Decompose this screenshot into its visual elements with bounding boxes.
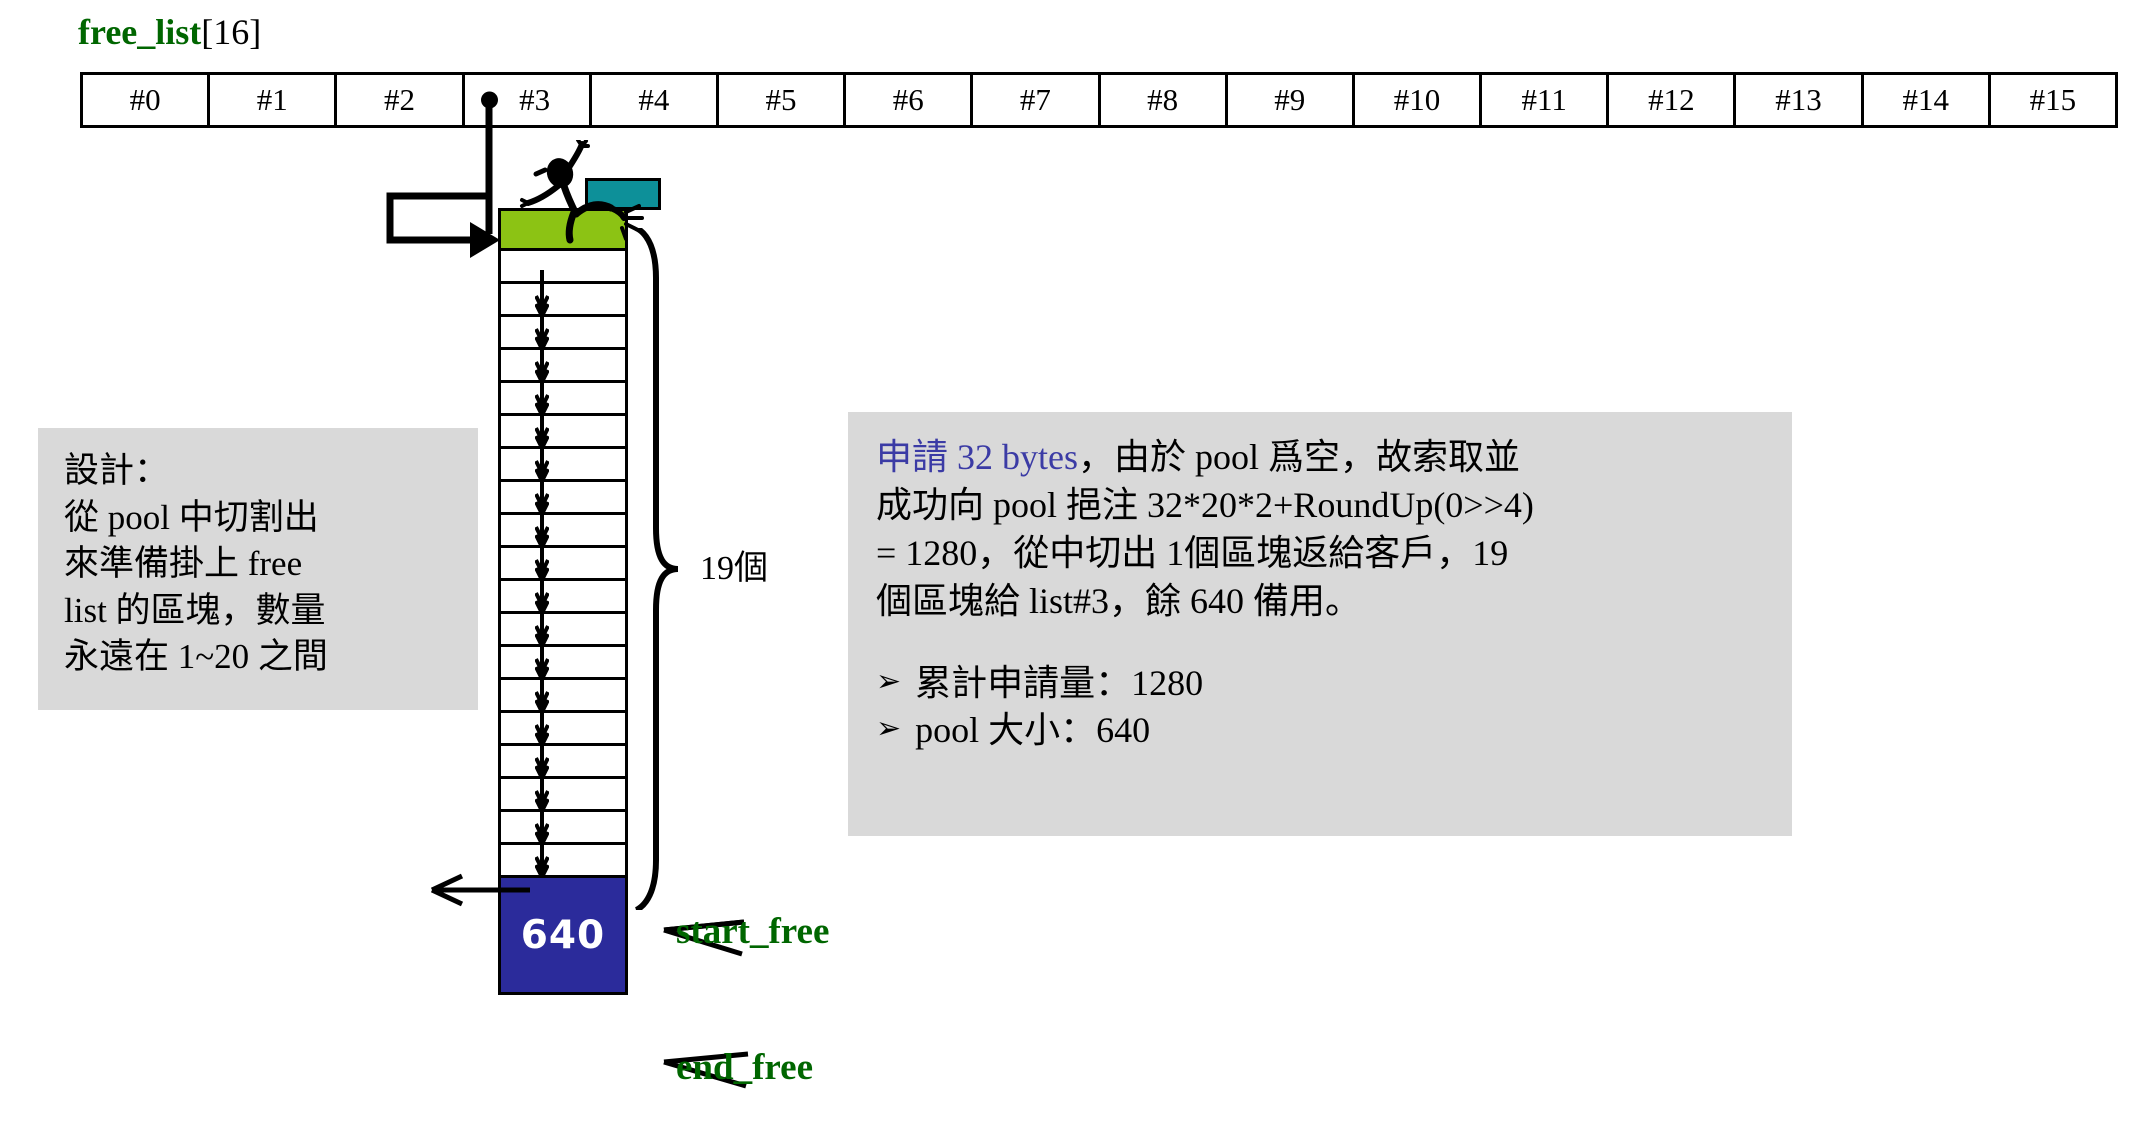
pointer-line-route bbox=[390, 196, 490, 240]
free-list-cell-3[interactable]: #3 bbox=[465, 75, 592, 125]
allocation-note-line: 申請 32 bytes，由於 pool 爲空，故索取並 bbox=[876, 434, 1764, 482]
free-list-cell-label: #6 bbox=[893, 82, 924, 118]
free-block-cell bbox=[498, 314, 628, 347]
free-list-cell-0[interactable]: #0 bbox=[83, 75, 210, 125]
free-block-cell bbox=[498, 578, 628, 611]
free-list-cell-9[interactable]: #9 bbox=[1228, 75, 1355, 125]
block-count-label: 19個 bbox=[700, 540, 768, 589]
free-list-cell-label: #12 bbox=[1648, 82, 1695, 118]
free-block-cell bbox=[498, 809, 628, 842]
end-free-label: end_free bbox=[676, 1046, 813, 1089]
free-block-cell bbox=[498, 545, 628, 578]
free-list-cell-label: #9 bbox=[1274, 82, 1305, 118]
free-list-cell-label: #14 bbox=[1902, 82, 1949, 118]
free-list-cell-4[interactable]: #4 bbox=[592, 75, 719, 125]
bullet-arrow-icon: ➢ bbox=[876, 707, 901, 751]
free-block-cell bbox=[498, 479, 628, 512]
block-count-brace bbox=[634, 228, 684, 910]
free-block-cell bbox=[498, 776, 628, 809]
free-list-array: #0 #1 #2 #3 #4 #5 #6 #7 #8 #9 #10 #11 #1… bbox=[80, 72, 2118, 128]
free-block-cell-last bbox=[498, 842, 628, 875]
pool-remainder-label: 640 bbox=[521, 913, 605, 958]
design-note-box: 設計： 從 pool 中切割出 來準備掛上 free list 的區塊，數量 永… bbox=[38, 428, 478, 710]
free-list-cell-14[interactable]: #14 bbox=[1864, 75, 1991, 125]
free-list-cell-label: #5 bbox=[766, 82, 797, 118]
allocation-note-line: 成功向 pool 挹注 32*20*2+RoundUp(0>>4) bbox=[876, 482, 1764, 530]
free-list-cell-label: #0 bbox=[130, 82, 161, 118]
note-spacer bbox=[876, 626, 1764, 660]
free-list-cell-label: #10 bbox=[1394, 82, 1441, 118]
allocation-bullet-text: pool 大小：640 bbox=[915, 707, 1150, 755]
free-block-cell bbox=[498, 248, 628, 281]
free-list-cell-5[interactable]: #5 bbox=[719, 75, 846, 125]
design-note-line: 設計： bbox=[64, 448, 452, 495]
free-list-cell-label: #3 bbox=[519, 82, 550, 118]
free-list-cell-label: #1 bbox=[257, 82, 288, 118]
free-list-cell-6[interactable]: #6 bbox=[846, 75, 973, 125]
tail-null-arrowhead bbox=[432, 876, 462, 904]
array-index-label: [16] bbox=[201, 12, 261, 52]
list-head-node-dot-icon bbox=[481, 92, 498, 109]
free-list-cell-11[interactable]: #11 bbox=[1482, 75, 1609, 125]
free-list-cell-label: #11 bbox=[1521, 82, 1566, 118]
allocation-bullet-text: 累計申請量：1280 bbox=[915, 660, 1203, 708]
pointer-arrowhead bbox=[470, 222, 500, 258]
diagram-canvas: free_list[16] #0 #1 #2 #3 #4 #5 #6 #7 #8… bbox=[0, 0, 2134, 1130]
free-list-cell-label: #8 bbox=[1147, 82, 1178, 118]
free-list-cell-8[interactable]: #8 bbox=[1101, 75, 1228, 125]
free-list-cell-label: #4 bbox=[638, 82, 669, 118]
allocation-note-line: 個區塊給 list#3，餘 640 備用。 bbox=[876, 578, 1764, 626]
free-block-cell bbox=[498, 347, 628, 380]
allocation-note-text: ，由於 pool 爲空，故索取並 bbox=[1078, 437, 1520, 477]
free-block-cell bbox=[498, 446, 628, 479]
allocation-note-box: 申請 32 bytes，由於 pool 爲空，故索取並 成功向 pool 挹注 … bbox=[848, 412, 1792, 836]
allocation-highlight: 申請 32 bytes bbox=[876, 437, 1078, 477]
start-free-label: start_free bbox=[676, 910, 829, 953]
free-list-cell-7[interactable]: #7 bbox=[973, 75, 1100, 125]
design-note-line: 永遠在 1~20 之間 bbox=[64, 634, 452, 681]
free-block-cell bbox=[498, 281, 628, 314]
free-list-cell-13[interactable]: #13 bbox=[1736, 75, 1863, 125]
free-block-cell bbox=[498, 611, 628, 644]
free-block-cell bbox=[498, 743, 628, 776]
free-list-cell-label: #2 bbox=[384, 82, 415, 118]
free-list-cell-label: #13 bbox=[1775, 82, 1822, 118]
array-name-label: free_list bbox=[78, 12, 201, 52]
free-list-cell-label: #15 bbox=[2030, 82, 2077, 118]
free-list-cell-1[interactable]: #1 bbox=[210, 75, 337, 125]
page-title: free_list[16] bbox=[78, 14, 261, 50]
free-list-cell-10[interactable]: #10 bbox=[1355, 75, 1482, 125]
free-block-cell bbox=[498, 677, 628, 710]
free-list-cell-2[interactable]: #2 bbox=[337, 75, 464, 125]
bullet-arrow-icon: ➢ bbox=[876, 660, 901, 704]
memory-block-column: 640 bbox=[498, 208, 628, 995]
free-list-cell-12[interactable]: #12 bbox=[1609, 75, 1736, 125]
free-block-cell bbox=[498, 413, 628, 446]
allocation-bullet: ➢ 累計申請量：1280 bbox=[876, 660, 1764, 708]
pool-remainder-block: 640 bbox=[498, 875, 628, 995]
allocation-note-line: = 1280，從中切出 1個區塊返給客戶，19 bbox=[876, 530, 1764, 578]
free-block-cell bbox=[498, 710, 628, 743]
free-list-cell-label: #7 bbox=[1020, 82, 1051, 118]
free-list-cell-15[interactable]: #15 bbox=[1991, 75, 2115, 125]
free-block-cell bbox=[498, 380, 628, 413]
free-block-cell bbox=[498, 512, 628, 545]
link-down-arrow-icon bbox=[535, 831, 549, 877]
design-note-line: list 的區塊，數量 bbox=[64, 588, 452, 635]
design-note-line: 從 pool 中切割出 bbox=[64, 495, 452, 542]
allocation-bullet: ➢ pool 大小：640 bbox=[876, 707, 1764, 755]
free-block-cell bbox=[498, 644, 628, 677]
design-note-line: 來準備掛上 free bbox=[64, 541, 452, 588]
